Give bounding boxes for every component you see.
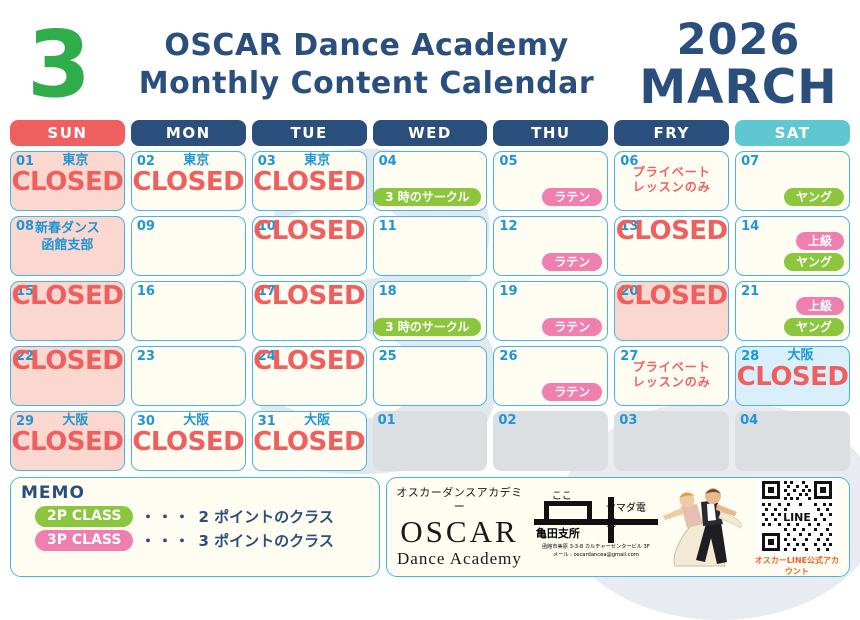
calendar-day-cell[interactable]: 19ラテン <box>493 281 608 341</box>
memo-description: 3 ポイントのクラス <box>198 530 333 551</box>
calendar-day-cell[interactable]: 02東京CLOSED <box>131 151 246 211</box>
memo-dots: ・・・ <box>140 506 191 527</box>
closed-label: CLOSED <box>737 364 849 391</box>
page-footer: MEMO 2P CLASS・・・2 ポイントのクラス3P CLASS・・・3 ポ… <box>10 477 850 577</box>
closed-label: CLOSED <box>132 429 244 456</box>
day-content <box>132 282 245 338</box>
calendar-day-cell[interactable]: 06プライベートレッスンのみ <box>614 151 729 211</box>
calendar-day-cell[interactable]: 043 時のサークル <box>373 151 488 211</box>
day-badges: 上級ヤング <box>784 297 844 336</box>
day-content: 東京CLOSED <box>253 152 366 208</box>
closed-label: CLOSED <box>11 283 123 310</box>
map-vertical-road <box>608 497 614 543</box>
line-qr-block[interactable]: LINE オスカーLINE公式アカウント <box>751 477 843 577</box>
calendar-day-cell[interactable]: 05ラテン <box>493 151 608 211</box>
day-badges: ヤング <box>784 188 844 206</box>
day-content: 東京CLOSED <box>11 152 124 208</box>
day-content: CLOSED <box>615 217 728 273</box>
calendar-day-cell[interactable]: 15CLOSED <box>10 281 125 341</box>
header-year: 2026 <box>631 17 846 63</box>
weekday-header-row: SUNMONTUEWEDTHUFRYSAT <box>10 120 850 146</box>
calendar-day-cell[interactable]: 20CLOSED <box>614 281 729 341</box>
calendar-day-cell[interactable]: 08新春ダンス函館支部 <box>10 216 125 276</box>
class-badge[interactable]: 3 時のサークル <box>373 188 481 206</box>
map-address: 函館市美原 3-3-8 カルチャーセンタービル 3F メール : oscarda… <box>530 543 662 559</box>
day-badges: 3 時のサークル <box>373 318 481 336</box>
day-badges: ラテン <box>542 253 602 271</box>
day-content <box>373 411 488 469</box>
map-branch-label: 亀田支所 <box>536 525 580 541</box>
calendar-day-cell[interactable]: 28大阪CLOSED <box>735 346 850 406</box>
day-badges: ラテン <box>542 188 602 206</box>
calendar-day-cell[interactable]: 30大阪CLOSED <box>131 411 246 471</box>
memo-badge: 2P CLASS <box>35 506 133 527</box>
day-content <box>735 411 850 469</box>
closed-label: CLOSED <box>132 169 244 196</box>
calendar-day-cell[interactable]: 01東京CLOSED <box>10 151 125 211</box>
day-content: CLOSED <box>11 282 124 338</box>
map-address-line: 函館市美原 3-3-8 カルチャーセンタービル 3F <box>530 543 662 551</box>
day-location: 新春ダンス函館支部 <box>35 220 100 254</box>
day-content: CLOSED <box>11 347 124 403</box>
title-line-2: Monthly Content Calendar <box>102 65 631 103</box>
qr-code-icon[interactable]: LINE <box>758 477 836 555</box>
day-content: CLOSED <box>253 217 366 273</box>
day-content: 大阪CLOSED <box>736 347 849 403</box>
calendar-day-cell[interactable]: 03 <box>614 411 729 471</box>
calendar-day-cell[interactable]: 10CLOSED <box>252 216 367 276</box>
day-content: 大阪CLOSED <box>11 412 124 468</box>
closed-label: CLOSED <box>11 429 123 456</box>
day-content <box>374 217 487 273</box>
day-content: 大阪CLOSED <box>132 412 245 468</box>
day-content: CLOSED <box>615 282 728 338</box>
day-badges: 上級ヤング <box>784 232 844 271</box>
private-lesson-note: プライベートレッスンのみ <box>615 165 728 195</box>
class-badge[interactable]: ヤング <box>784 318 844 336</box>
calendar-day-cell[interactable]: 21上級ヤング <box>735 281 850 341</box>
calendar-day-cell[interactable]: 27プライベートレッスンのみ <box>614 346 729 406</box>
class-badge[interactable]: 上級 <box>796 297 844 315</box>
class-badge[interactable]: 3 時のサークル <box>373 318 481 336</box>
memo-badge: 3P CLASS <box>35 530 133 551</box>
calendar-day-cell[interactable]: 13CLOSED <box>614 216 729 276</box>
calendar-day-cell[interactable]: 04 <box>735 411 850 471</box>
class-badge[interactable]: ラテン <box>542 383 602 401</box>
oscar-logo: オスカーダンスアカデミー OSCAR Dance Academy <box>393 486 526 569</box>
calendar-day-cell[interactable]: 07ヤング <box>735 151 850 211</box>
weekday-header-mon: MON <box>131 120 246 146</box>
day-content: 東京CLOSED <box>132 152 245 208</box>
day-content <box>132 217 245 273</box>
day-badges: ラテン <box>542 318 602 336</box>
calendar-day-cell[interactable]: 22CLOSED <box>10 346 125 406</box>
closed-label: CLOSED <box>616 218 728 245</box>
closed-label: CLOSED <box>11 169 123 196</box>
location-map: ここ ヤマダ電気 亀田支所 函館市美原 3-3-8 カルチャーセンタービル 3F… <box>530 481 647 573</box>
day-content: 大阪CLOSED <box>253 412 366 468</box>
day-content: 新春ダンス函館支部 <box>11 217 124 273</box>
header-month-name: MARCH <box>631 63 846 113</box>
logo-subtitle: Dance Academy <box>393 549 526 569</box>
calendar-page: 3 OSCAR Dance Academy Monthly Content Ca… <box>0 0 860 613</box>
calendar-day-cell[interactable]: 01 <box>373 411 488 471</box>
dancing-couple-icon <box>651 482 747 572</box>
class-badge[interactable]: ラテン <box>542 188 602 206</box>
day-badges: ラテン <box>542 383 602 401</box>
calendar-day-cell[interactable]: 24CLOSED <box>252 346 367 406</box>
calendar-grid: 01東京CLOSED02東京CLOSED03東京CLOSED043 時のサークル… <box>10 151 850 471</box>
calendar-day-cell[interactable]: 183 時のサークル <box>373 281 488 341</box>
logo-kana: オスカーダンスアカデミー <box>393 486 526 514</box>
closed-label: CLOSED <box>253 283 365 310</box>
closed-label: CLOSED <box>11 348 123 375</box>
calendar-day-cell[interactable]: 23 <box>131 346 246 406</box>
svg-text:LINE: LINE <box>783 511 811 524</box>
day-content <box>132 347 245 403</box>
calendar-day-cell[interactable]: 09 <box>131 216 246 276</box>
memo-row: 2P CLASS・・・2 ポイントのクラス <box>35 506 369 527</box>
closed-label: CLOSED <box>253 218 365 245</box>
memo-dots: ・・・ <box>140 530 191 551</box>
qr-caption: オスカーLINE公式アカウント <box>751 555 843 577</box>
calendar-day-cell[interactable]: 02 <box>493 411 608 471</box>
map-mail-line: メール : oscardancea@gmail.com <box>530 551 662 559</box>
closed-label: CLOSED <box>253 348 365 375</box>
memo-title: MEMO <box>21 483 369 503</box>
class-badge[interactable]: ラテン <box>542 253 602 271</box>
calendar-day-cell[interactable]: 26ラテン <box>493 346 608 406</box>
memo-rows: 2P CLASS・・・2 ポイントのクラス3P CLASS・・・3 ポイントのク… <box>21 506 369 551</box>
closed-label: CLOSED <box>253 169 365 196</box>
map-building-icon <box>544 501 592 521</box>
calendar-day-cell[interactable]: 17CLOSED <box>252 281 367 341</box>
memo-box: MEMO 2P CLASS・・・2 ポイントのクラス3P CLASS・・・3 ポ… <box>10 477 380 577</box>
weekday-header-sun: SUN <box>10 120 125 146</box>
calendar-day-cell[interactable]: 12ラテン <box>493 216 608 276</box>
class-badge[interactable]: ヤング <box>784 253 844 271</box>
day-content <box>614 411 729 469</box>
calendar-day-cell[interactable]: 11 <box>373 216 488 276</box>
memo-description: 2 ポイントのクラス <box>198 506 333 527</box>
logo-name: OSCAR <box>393 514 526 549</box>
calendar-day-cell[interactable]: 31大阪CLOSED <box>252 411 367 471</box>
map-here-label: ここ <box>552 487 572 502</box>
weekday-header-thu: THU <box>493 120 608 146</box>
class-badge[interactable]: ヤング <box>784 188 844 206</box>
closed-label: CLOSED <box>253 429 365 456</box>
calendar-day-cell[interactable]: 16 <box>131 281 246 341</box>
day-content <box>374 347 487 403</box>
calendar-day-cell[interactable]: 25 <box>373 346 488 406</box>
info-box: オスカーダンスアカデミー OSCAR Dance Academy ここ ヤマダ電… <box>386 477 850 577</box>
calendar-day-cell[interactable]: 29大阪CLOSED <box>10 411 125 471</box>
header-month-number: 3 <box>14 19 102 111</box>
closed-label: CLOSED <box>616 283 728 310</box>
day-content: CLOSED <box>253 282 366 338</box>
class-badge[interactable]: ラテン <box>542 318 602 336</box>
day-content: CLOSED <box>253 347 366 403</box>
weekday-header-wed: WED <box>373 120 488 146</box>
weekday-header-sat: SAT <box>735 120 850 146</box>
class-badge[interactable]: 上級 <box>796 232 844 250</box>
calendar-day-cell[interactable]: 03東京CLOSED <box>252 151 367 211</box>
memo-row: 3P CLASS・・・3 ポイントのクラス <box>35 530 369 551</box>
page-title: OSCAR Dance Academy Monthly Content Cale… <box>102 27 631 103</box>
title-line-1: OSCAR Dance Academy <box>102 27 631 65</box>
day-badges: 3 時のサークル <box>373 188 481 206</box>
weekday-header-fry: FRY <box>614 120 729 146</box>
calendar-day-cell[interactable]: 14上級ヤング <box>735 216 850 276</box>
header-year-month: 2026 MARCH <box>631 17 846 113</box>
private-lesson-note: プライベートレッスンのみ <box>615 360 728 390</box>
day-content <box>493 411 608 469</box>
page-header: 3 OSCAR Dance Academy Monthly Content Ca… <box>10 0 850 118</box>
weekday-header-tue: TUE <box>252 120 367 146</box>
